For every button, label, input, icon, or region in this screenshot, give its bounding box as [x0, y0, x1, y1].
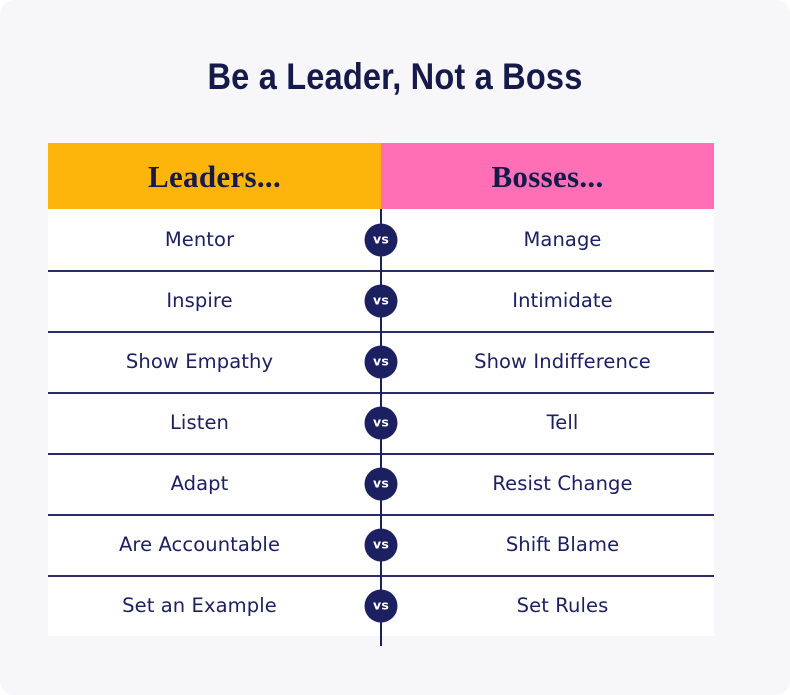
vs-badge: vs — [365, 284, 398, 317]
column-header-bosses-label: Bosses... — [491, 161, 603, 192]
boss-cell: Show Indifference — [381, 350, 714, 373]
boss-cell: Manage — [381, 228, 714, 251]
boss-label: Manage — [493, 228, 601, 251]
page-title: Be a Leader, Not a Boss — [47, 56, 742, 98]
leader-cell: Mentor — [48, 228, 381, 251]
leader-cell: Show Empathy — [48, 350, 381, 373]
boss-label: Intimidate — [482, 289, 613, 312]
boss-cell: Set Rules — [381, 594, 714, 617]
comparison-table: Leaders... Bosses... Mentor Manage vs — [48, 143, 714, 643]
leader-cell: Inspire — [48, 289, 381, 312]
vs-badge-label: vs — [373, 355, 389, 368]
infographic-page: Be a Leader, Not a Boss Leaders... Bosse… — [0, 0, 790, 695]
column-header-bosses: Bosses... — [381, 143, 714, 209]
boss-cell: Intimidate — [381, 289, 714, 312]
leader-label: Show Empathy — [126, 350, 303, 373]
boss-label: Resist Change — [462, 472, 632, 495]
leader-cell: Are Accountable — [48, 533, 381, 556]
vs-badge: vs — [365, 528, 398, 561]
vs-badge-label: vs — [373, 538, 389, 551]
column-header-leaders: Leaders... — [48, 143, 381, 209]
vs-badge-label: vs — [373, 477, 389, 490]
vs-badge-label: vs — [373, 599, 389, 612]
leader-label: Mentor — [165, 228, 264, 251]
boss-cell: Resist Change — [381, 472, 714, 495]
leader-cell: Set an Example — [48, 594, 381, 617]
vs-badge: vs — [365, 589, 398, 622]
boss-label: Show Indifference — [444, 350, 651, 373]
vs-badge: vs — [365, 406, 398, 439]
leader-cell: Listen — [48, 411, 381, 434]
table-header-row: Leaders... Bosses... — [48, 143, 714, 209]
vs-badge: vs — [365, 467, 398, 500]
column-header-leaders-label: Leaders... — [148, 161, 281, 192]
vs-badge: vs — [365, 223, 398, 256]
boss-label: Tell — [517, 411, 579, 434]
leader-cell: Adapt — [48, 472, 381, 495]
boss-label: Shift Blame — [476, 533, 619, 556]
leader-label: Set an Example — [122, 594, 307, 617]
leader-label: Inspire — [166, 289, 262, 312]
leader-label: Adapt — [171, 472, 259, 495]
boss-cell: Shift Blame — [381, 533, 714, 556]
vs-badge-label: vs — [373, 416, 389, 429]
vs-badge: vs — [365, 345, 398, 378]
boss-label: Set Rules — [487, 594, 609, 617]
leader-label: Listen — [170, 411, 259, 434]
vs-badge-label: vs — [373, 233, 389, 246]
vs-badge-label: vs — [373, 294, 389, 307]
leader-label: Are Accountable — [119, 533, 310, 556]
boss-cell: Tell — [381, 411, 714, 434]
